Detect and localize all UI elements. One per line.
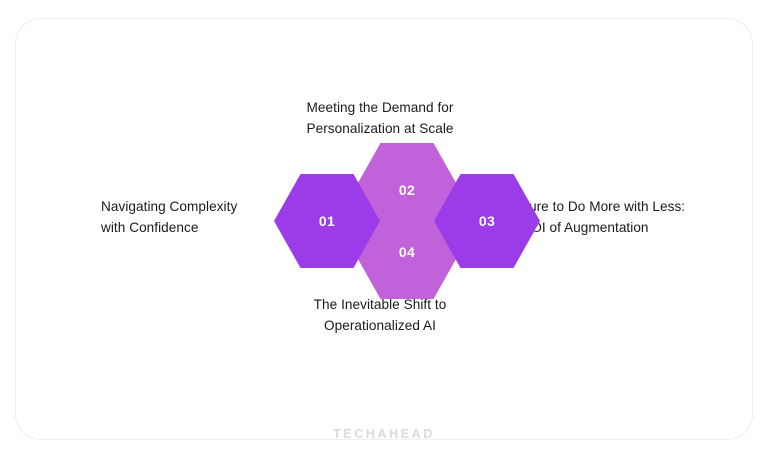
hexagon-label-02: Meeting the Demand for Personalization a…: [258, 97, 502, 139]
hexagon-label-01: Navigating Complexity with Confidence: [101, 196, 287, 238]
brand-watermark: TECHAHEAD: [0, 427, 768, 441]
hexagon-label-04: The Inevitable Shift to Operationalized …: [262, 294, 498, 336]
hexagon-label-02-line2: Personalization at Scale: [258, 118, 502, 139]
hexagon-label-04-line2: Operationalized AI: [262, 315, 498, 336]
hexagon-number-03: 03: [479, 214, 495, 228]
hexagon-number-01: 01: [319, 214, 335, 228]
hexagon-label-01-line1: Navigating Complexity: [101, 196, 287, 217]
hexagon-label-01-line2: with Confidence: [101, 217, 287, 238]
hexagon-number-04: 04: [399, 245, 415, 259]
infographic-canvas: 02 04 01 03 Meeting the Demand for Perso…: [0, 0, 768, 457]
hexagon-cluster: 02 04 01 03: [274, 143, 486, 293]
hexagon-label-02-line1: Meeting the Demand for: [258, 97, 502, 118]
hexagon-number-02: 02: [399, 183, 415, 197]
